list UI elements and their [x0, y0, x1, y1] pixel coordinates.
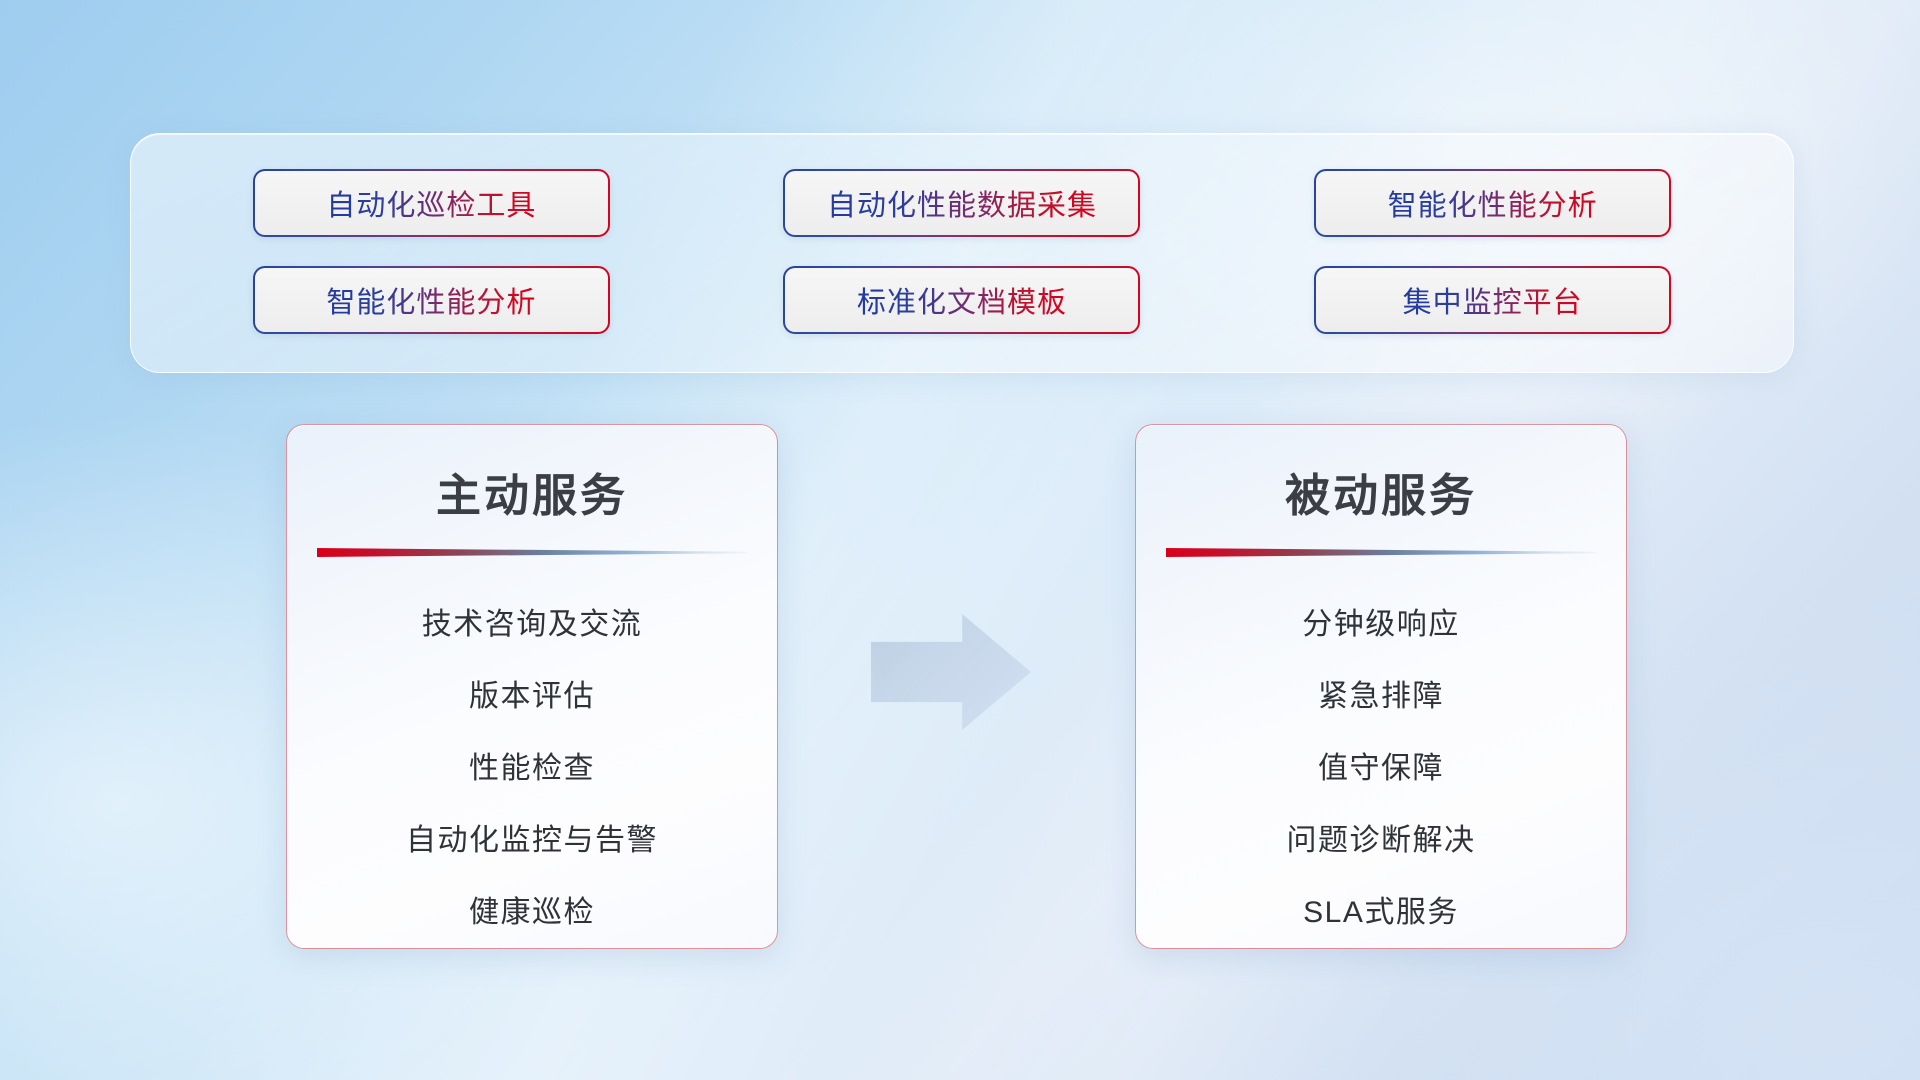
- capability-pill-label: 智能化性能分析: [326, 279, 536, 321]
- capability-pill-inner: 标准化文档模板: [785, 268, 1138, 332]
- capability-pill-grid: 自动化巡检工具 自动化性能数据采集 智能化性能分析 智能化性能分析: [131, 134, 1793, 372]
- capability-pill-inner: 集中监控平台: [1316, 268, 1669, 332]
- card-divider: [317, 548, 747, 557]
- card-title: 主动服务: [287, 459, 777, 524]
- capability-pill-label: 智能化性能分析: [1388, 182, 1598, 224]
- capability-pill-inner: 自动化巡检工具: [255, 171, 608, 235]
- capability-pill-inner: 智能化性能分析: [1316, 171, 1669, 235]
- list-item: 健康巡检: [287, 873, 777, 945]
- list-item: SLA式服务: [1136, 873, 1626, 945]
- service-card-proactive[interactable]: 主动服务 技术咨询及交流 版本评估 性能检查 自动化监控与告警 健康巡检: [286, 424, 778, 949]
- capability-pill[interactable]: 集中监控平台: [1314, 266, 1671, 334]
- diagram-canvas: 自动化巡检工具 自动化性能数据采集 智能化性能分析 智能化性能分析: [0, 0, 1920, 1080]
- card-title: 被动服务: [1136, 459, 1626, 524]
- capability-pill[interactable]: 标准化文档模板: [783, 266, 1140, 334]
- capability-pill-label: 自动化巡检工具: [326, 182, 536, 224]
- capability-pill[interactable]: 自动化巡检工具: [253, 169, 610, 237]
- capability-pill-inner: 智能化性能分析: [255, 268, 608, 332]
- capability-pill[interactable]: 自动化性能数据采集: [783, 169, 1140, 237]
- capability-pill-label: 自动化性能数据采集: [827, 182, 1097, 224]
- list-item: 问题诊断解决: [1136, 801, 1626, 873]
- capabilities-panel: 自动化巡检工具 自动化性能数据采集 智能化性能分析 智能化性能分析: [130, 133, 1794, 373]
- arrow-right-icon: [871, 614, 1031, 730]
- list-item: 性能检查: [287, 729, 777, 801]
- list-item: 紧急排障: [1136, 657, 1626, 729]
- card-item-list: 分钟级响应 紧急排障 值守保障 问题诊断解决 SLA式服务: [1136, 585, 1626, 945]
- capability-pill-label: 标准化文档模板: [857, 279, 1067, 321]
- list-item: 版本评估: [287, 657, 777, 729]
- capability-pill-label: 集中监控平台: [1403, 279, 1583, 321]
- service-card-reactive[interactable]: 被动服务 分钟级响应 紧急排障 值守保障 问题诊断解决 SLA式服务: [1135, 424, 1627, 949]
- capability-pill[interactable]: 智能化性能分析: [1314, 169, 1671, 237]
- list-item: 值守保障: [1136, 729, 1626, 801]
- card-divider: [1166, 548, 1596, 557]
- capability-pill[interactable]: 智能化性能分析: [253, 266, 610, 334]
- card-item-list: 技术咨询及交流 版本评估 性能检查 自动化监控与告警 健康巡检: [287, 585, 777, 945]
- list-item: 分钟级响应: [1136, 585, 1626, 657]
- list-item: 自动化监控与告警: [287, 801, 777, 873]
- list-item: 技术咨询及交流: [287, 585, 777, 657]
- capability-pill-inner: 自动化性能数据采集: [785, 171, 1138, 235]
